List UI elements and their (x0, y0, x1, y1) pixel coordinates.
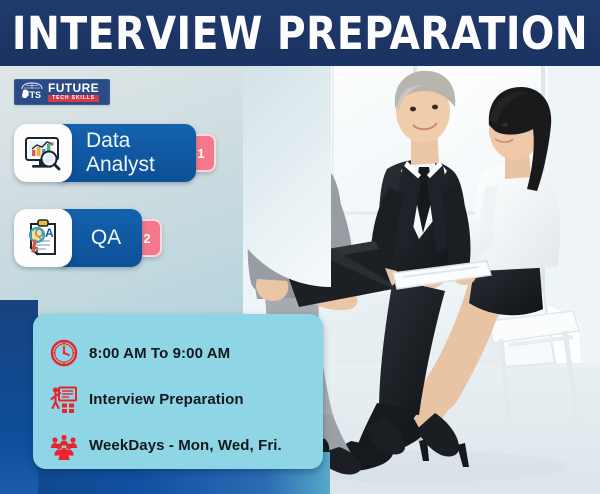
svg-text:FTS: FTS (24, 90, 41, 100)
page-title: INTERVIEW PREPARATION (12, 7, 588, 60)
course-label-pill[interactable]: Data Analyst (54, 124, 196, 182)
header-banner: INTERVIEW PREPARATION (0, 0, 600, 66)
logo-name: FUTURE (48, 82, 99, 94)
group-people-icon (47, 432, 81, 460)
logo-wordmark: FUTURE TECH SKILLS (48, 82, 99, 102)
qa-icon-svg: Q A (22, 217, 64, 259)
course-label: Data Analyst (86, 129, 184, 177)
presentation-training-icon (47, 385, 81, 413)
course-label: QA (91, 226, 121, 250)
clock-icon (47, 339, 81, 367)
brand-logo[interactable]: FTS FUTURE TECH SKILLS (14, 79, 110, 105)
info-row-days: WeekDays - Mon, Wed, Fri. (33, 424, 323, 468)
data-analyst-icon-svg (22, 132, 64, 174)
group-icon-svg (50, 432, 78, 460)
course-card-data-analyst[interactable]: Data Analyst 1 (14, 124, 216, 182)
interview-preparation-poster: INTERVIEW PREPARATION FTS FUTURE TECH SK… (0, 0, 600, 494)
info-text-time: 8:00 AM To 9:00 AM (89, 345, 230, 362)
qa-clipboard-magnifier-icon: Q A (14, 209, 72, 267)
presentation-icon-svg (50, 385, 78, 413)
info-row-time: 8:00 AM To 9:00 AM (33, 331, 323, 375)
info-text-topic: Interview Preparation (89, 391, 244, 408)
schedule-info-panel: 8:00 AM To 9:00 AM Interview Preparation (33, 314, 323, 469)
monitor-chart-magnifier-icon (14, 124, 72, 182)
svg-text:A: A (45, 226, 54, 240)
clock-icon-svg (50, 339, 78, 367)
fts-logo-svg: FTS (19, 82, 45, 103)
photo-corner-swoosh (243, 63, 331, 287)
logo-tagline: TECH SKILLS (48, 95, 99, 102)
info-text-days: WeekDays - Mon, Wed, Fri. (89, 437, 282, 454)
info-row-topic: Interview Preparation (33, 377, 323, 421)
course-card-qa[interactable]: Q A QA 2 (14, 209, 162, 267)
fts-logo-icon: FTS (19, 82, 45, 103)
